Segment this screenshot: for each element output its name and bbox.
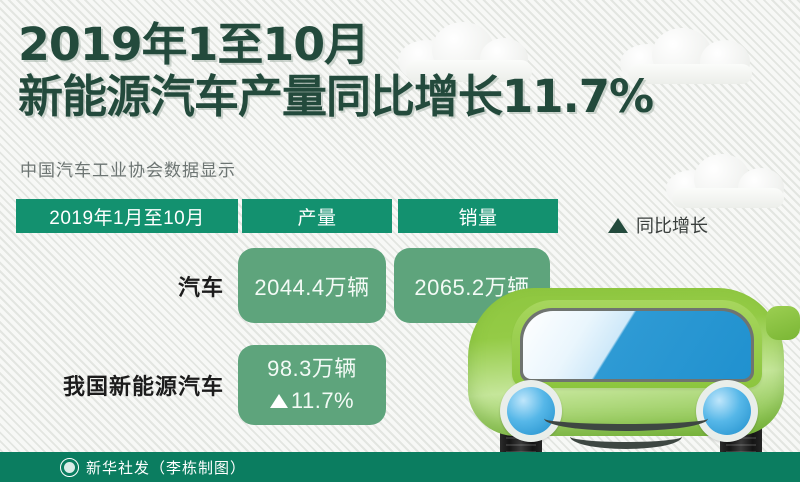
row-label-nev: 我国新能源汽车 [16,369,238,401]
headlight-left [500,380,562,442]
side-mirror [766,306,800,340]
page-title: 2019年1至10月 新能源汽车产量同比增长11.7% [18,22,653,120]
infographic-canvas: 2019年1至10月 新能源汽车产量同比增长11.7% 中国汽车工业协会数据显示… [0,0,800,482]
footer-bar: 新华社发（李栋制图） [0,452,800,482]
xinhua-logo-icon [60,458,79,477]
title-line-2: 新能源汽车产量同比增长11.7% [18,74,653,120]
subtitle: 中国汽车工业协会数据显示 [20,156,236,181]
table-header-production: 产量 [242,199,392,233]
cell-production-vehicles: 2044.4万辆 [238,248,386,323]
row-label-vehicles: 汽车 [16,270,238,302]
title-line-1: 2019年1至10月 [18,22,666,68]
growth-value: 11.7% [291,385,354,417]
windshield-glass [523,311,751,379]
cell-growth: 11.7% [270,385,354,417]
cell-value: 98.3万辆 [267,353,357,385]
table-header-period: 2019年1月至10月 [16,199,238,233]
cell-production-nev: 98.3万辆 11.7% [238,345,386,425]
green-car-illustration [452,236,800,468]
grille-line-lower [570,424,682,449]
cell-value: 2044.4万辆 [254,270,369,302]
table-header-sales: 销量 [398,199,558,233]
triangle-up-icon [270,394,288,408]
legend: 同比增长 [608,212,708,238]
windshield-frame [520,308,754,382]
legend-label: 同比增长 [636,212,708,238]
footer-credit: 新华社发（李栋制图） [86,457,246,478]
car-cabin [512,300,762,388]
triangle-up-icon [608,218,628,233]
headlight-right [696,380,758,442]
table-row: 我国新能源汽车 98.3万辆 11.7% [16,345,386,425]
car-body [468,288,784,436]
cloud-icon [666,152,796,208]
table-header-row: 2019年1月至10月 产量 销量 [16,199,558,233]
